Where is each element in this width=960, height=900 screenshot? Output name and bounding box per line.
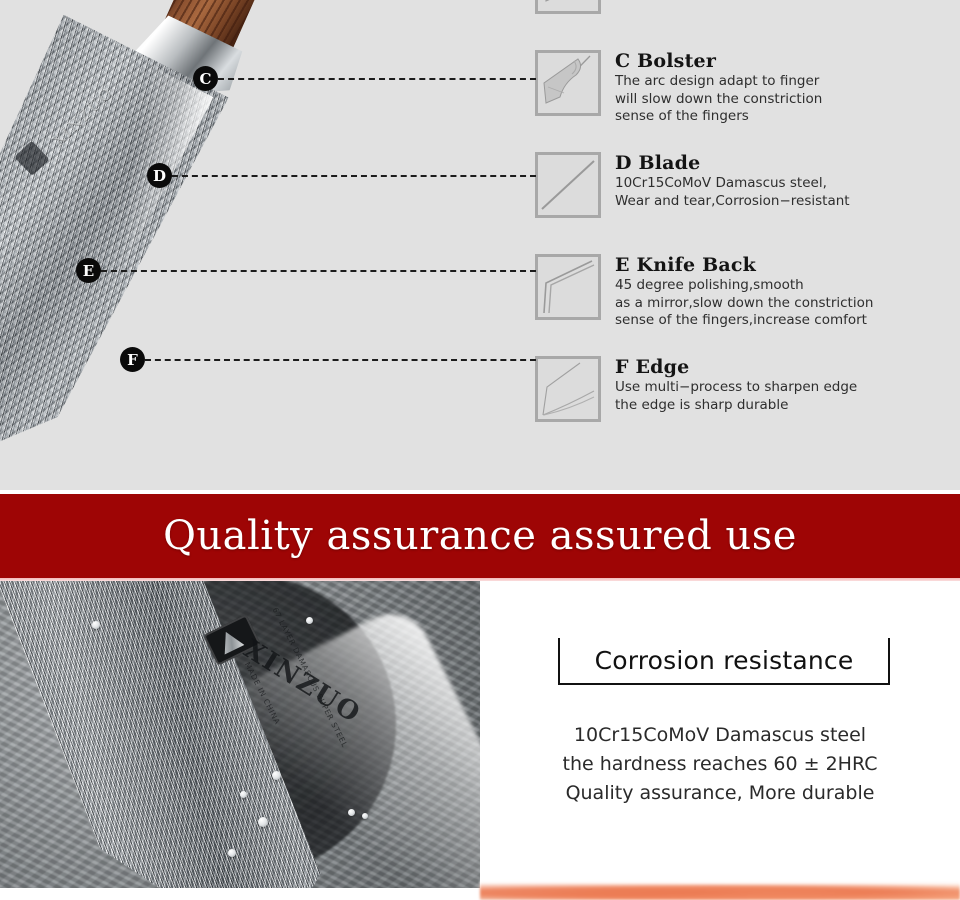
corrosion-info-panel: Corrosion resistance 10Cr15CoMoV Damascu… [480, 581, 960, 900]
knife-back-sketch-icon [535, 254, 601, 320]
spec-text: D Blade10Cr15CoMoV Damascus steel, Wear … [615, 152, 960, 242]
corrosion-section: XINZUO 67 LAYER DAMASCUS SUPER STEEL MAD… [0, 581, 960, 900]
water-droplet [348, 809, 355, 816]
bolster-sketch-icon [535, 0, 601, 14]
spec-text: F EdgeUse multi−process to sharpen edge … [615, 356, 960, 446]
edge-sketch-icon [535, 356, 601, 422]
water-droplet [240, 791, 247, 798]
spec-description: 10Cr15CoMoV Damascus steel, Wear and tea… [615, 175, 960, 210]
leader-line [218, 78, 536, 80]
spec-text: E Knife Back45 degree polishing,smooth a… [615, 254, 960, 344]
food-photo-strip [480, 881, 960, 900]
damascus-blade-photo: XINZUO 67 LAYER DAMASCUS SUPER STEEL MAD… [0, 581, 480, 888]
leader-line [101, 270, 536, 272]
spec-row: D Blade10Cr15CoMoV Damascus steel, Wear … [535, 152, 960, 242]
corrosion-description: 10Cr15CoMoV Damascus steel the hardness … [480, 721, 960, 808]
spec-description: 45 degree polishing,smooth as a mirror,s… [615, 277, 960, 330]
spec-text: sense is more comfortable [615, 0, 960, 38]
spec-description: The arc design adapt to finger will slow… [615, 73, 960, 126]
corrosion-heading-box: Corrosion resistance [558, 638, 890, 685]
spec-title: F Edge [615, 357, 960, 378]
blade-sketch-icon [535, 152, 601, 218]
marker-f: F [120, 347, 145, 372]
marker-e: E [76, 258, 101, 283]
spec-row: sense is more comfortable [535, 0, 960, 38]
spec-row: E Knife Back45 degree polishing,smooth a… [535, 254, 960, 344]
quality-banner: Quality assurance assured use [0, 494, 960, 578]
spec-description: Use multi−process to sharpen edge the ed… [615, 379, 960, 414]
spec-row: C BolsterThe arc design adapt to finger … [535, 50, 960, 140]
banner-title: Quality assurance assured use [163, 513, 797, 559]
spec-title: C Bolster [615, 51, 960, 72]
leader-line [145, 359, 536, 361]
water-droplet [272, 771, 281, 780]
corrosion-heading: Corrosion resistance [595, 646, 854, 675]
leader-line [172, 175, 536, 177]
marker-c: C [193, 66, 218, 91]
product-detail-page: XINZUO CDEF sense is more comfortableC B… [0, 0, 960, 900]
bolster-sketch-icon [535, 50, 601, 116]
spec-text: C BolsterThe arc design adapt to finger … [615, 50, 960, 140]
knife-product-photo: XINZUO [0, 0, 374, 490]
water-droplet [92, 621, 100, 629]
water-droplet [362, 813, 368, 819]
water-droplet [258, 817, 268, 827]
knife-spec-section: XINZUO CDEF sense is more comfortableC B… [0, 0, 960, 490]
water-droplet [306, 617, 313, 624]
water-droplet [228, 849, 236, 857]
spec-title: E Knife Back [615, 255, 960, 276]
spec-row: F EdgeUse multi−process to sharpen edge … [535, 356, 960, 446]
marker-d: D [147, 163, 172, 188]
spec-row-list: sense is more comfortableC BolsterThe ar… [535, 0, 960, 458]
spec-title: D Blade [615, 153, 960, 174]
